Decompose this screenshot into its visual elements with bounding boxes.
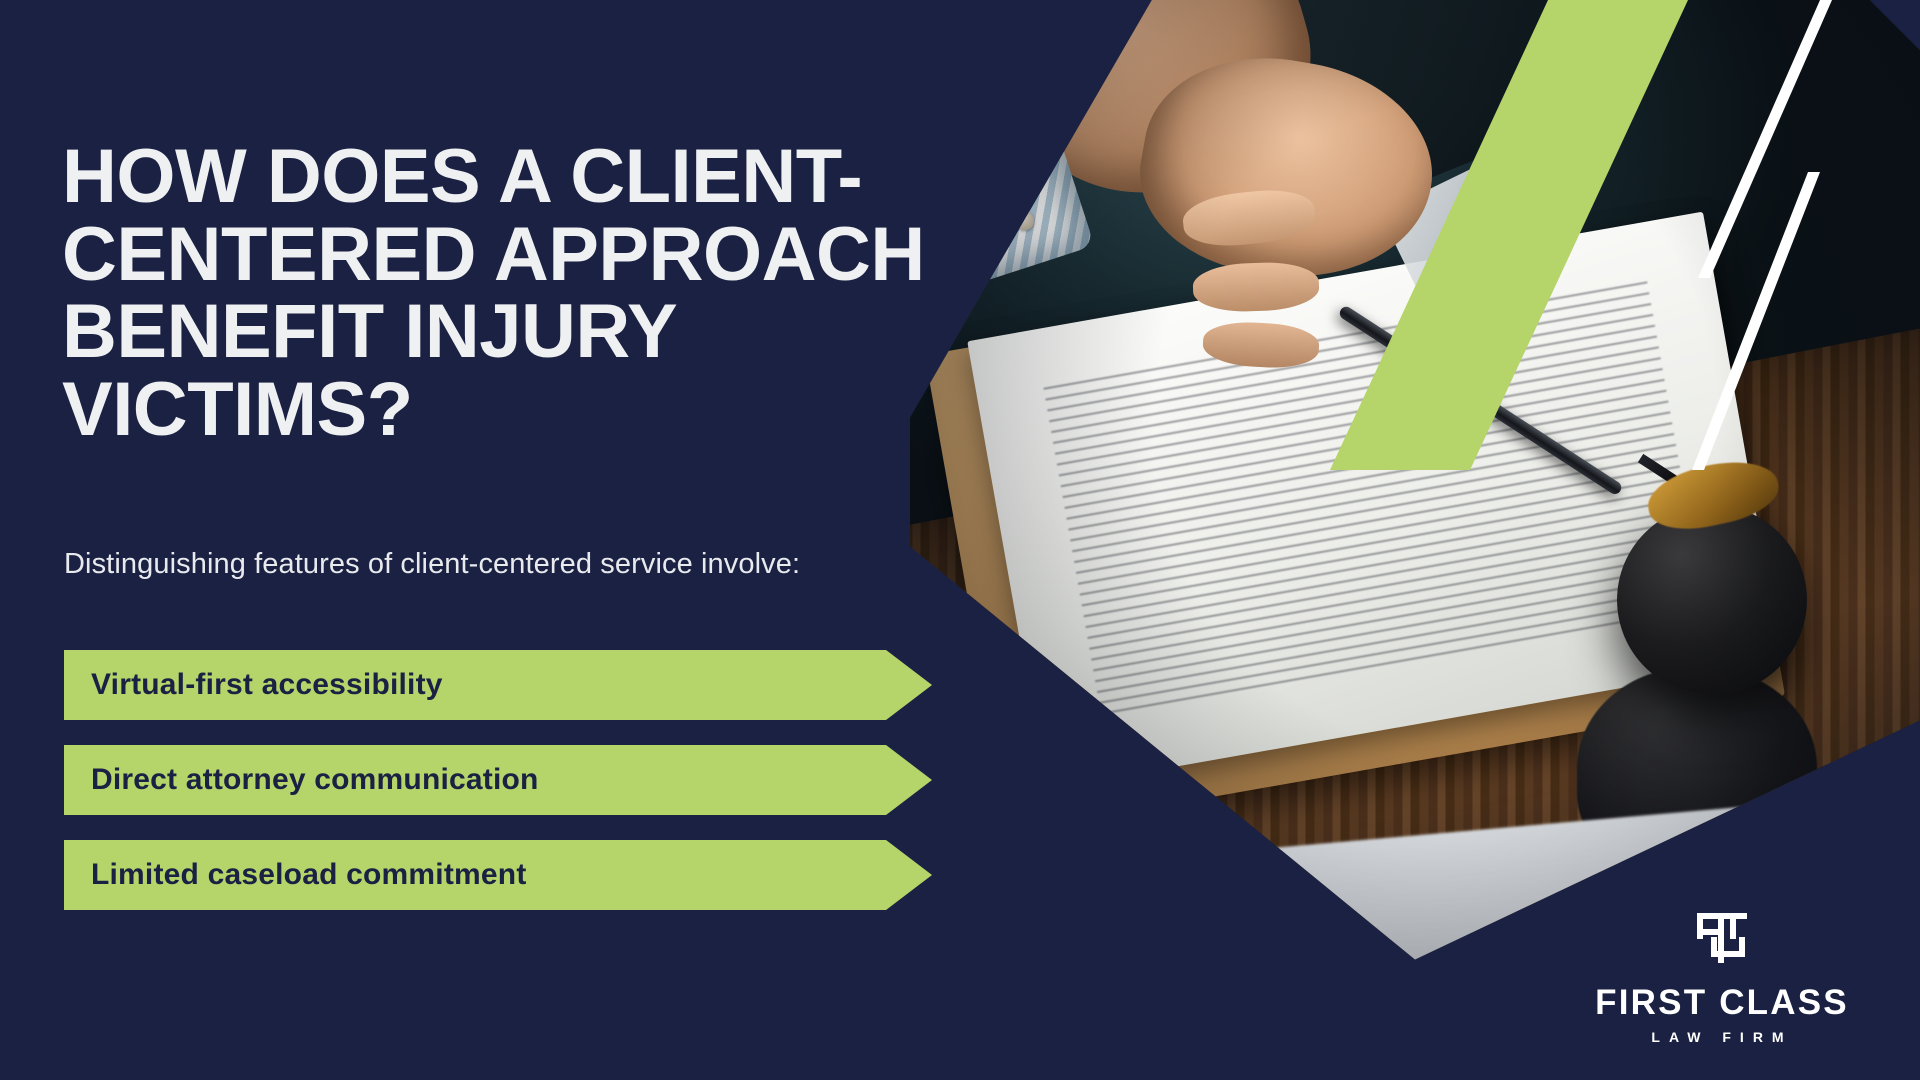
- green-diagonal-stripe: [1330, 0, 1688, 470]
- brand-tagline: LAW FIRM: [1572, 1030, 1872, 1044]
- brand-logo: FIRST CLASS LAW FIRM: [1572, 907, 1872, 1044]
- feature-list: Virtual-first accessibility Direct attor…: [64, 650, 944, 935]
- list-item-label: Virtual-first accessibility: [91, 650, 443, 720]
- first-class-monogram-icon: [1689, 907, 1755, 973]
- diagonal-stripes-decor: [1280, 0, 1920, 470]
- list-item[interactable]: Limited caseload commitment: [64, 840, 932, 910]
- list-item-label: Direct attorney communication: [91, 745, 539, 815]
- list-item-label: Limited caseload commitment: [91, 840, 527, 910]
- white-thin-line-lower: [1692, 172, 1820, 470]
- list-item[interactable]: Virtual-first accessibility: [64, 650, 932, 720]
- stripes-svg: [1280, 0, 1920, 470]
- page-title: How does a client-centered approach bene…: [62, 138, 1022, 448]
- poster-canvas: How does a client-centered approach bene…: [0, 0, 1920, 1080]
- subtitle: Distinguishing features of client-center…: [64, 548, 944, 581]
- white-thin-line-upper: [1698, 0, 1832, 278]
- list-item[interactable]: Direct attorney communication: [64, 745, 932, 815]
- brand-name: FIRST CLASS: [1572, 985, 1872, 1020]
